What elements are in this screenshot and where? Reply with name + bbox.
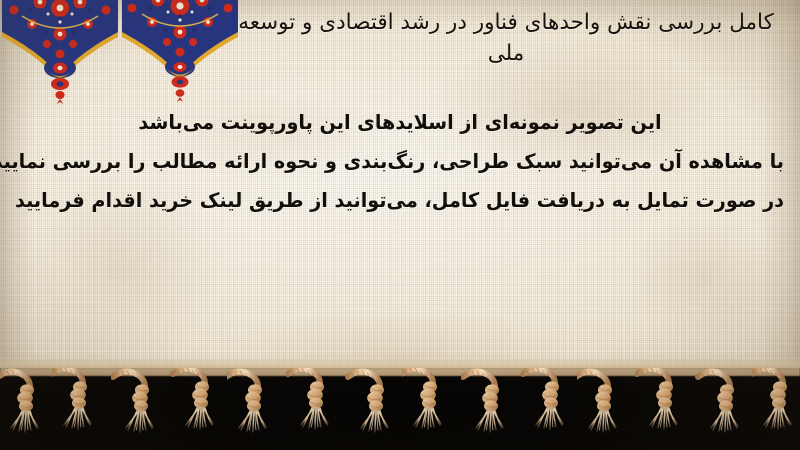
fringe-tassel-icon — [694, 368, 748, 448]
fringe-tassel-icon — [752, 368, 800, 448]
body-line: با مشاهده آن می‌توانید سبک طراحی، رنگ‌بن… — [16, 151, 784, 171]
fringe-tassel-icon — [461, 368, 515, 448]
fringe-tassel-icon — [519, 368, 573, 448]
carpet-fringe-tassels — [0, 366, 800, 450]
persian-medallion-ornament-icon — [2, 0, 118, 108]
fringe-tassel-icon — [286, 368, 340, 448]
slide-canvas: کامل بررسی نقش واحدهای فناور در رشد اقتص… — [0, 0, 800, 450]
fringe-tassel-icon — [344, 368, 398, 448]
fringe-tassel-icon — [0, 368, 48, 448]
body-line: این تصویر نمونه‌ای از اسلایدهای این پاور… — [16, 112, 784, 132]
fringe-tassel-icon — [169, 368, 223, 448]
fringe-tassel-icon — [577, 368, 631, 448]
persian-medallion-ornament-icon — [122, 0, 238, 108]
fringe-tassel-icon — [227, 368, 281, 448]
body-line: در صورت تمایل به دریافت فایل کامل، می‌تو… — [16, 190, 784, 210]
body-text-block: این تصویر نمونه‌ای از اسلایدهای این پاور… — [0, 112, 800, 229]
fringe-tassel-icon — [52, 368, 106, 448]
fringe-tassel-icon — [111, 368, 165, 448]
fringe-tassel-icon — [402, 368, 456, 448]
fringe-tassel-icon — [635, 368, 689, 448]
page-title: کامل بررسی نقش واحدهای فناور در رشد اقتص… — [226, 8, 786, 69]
